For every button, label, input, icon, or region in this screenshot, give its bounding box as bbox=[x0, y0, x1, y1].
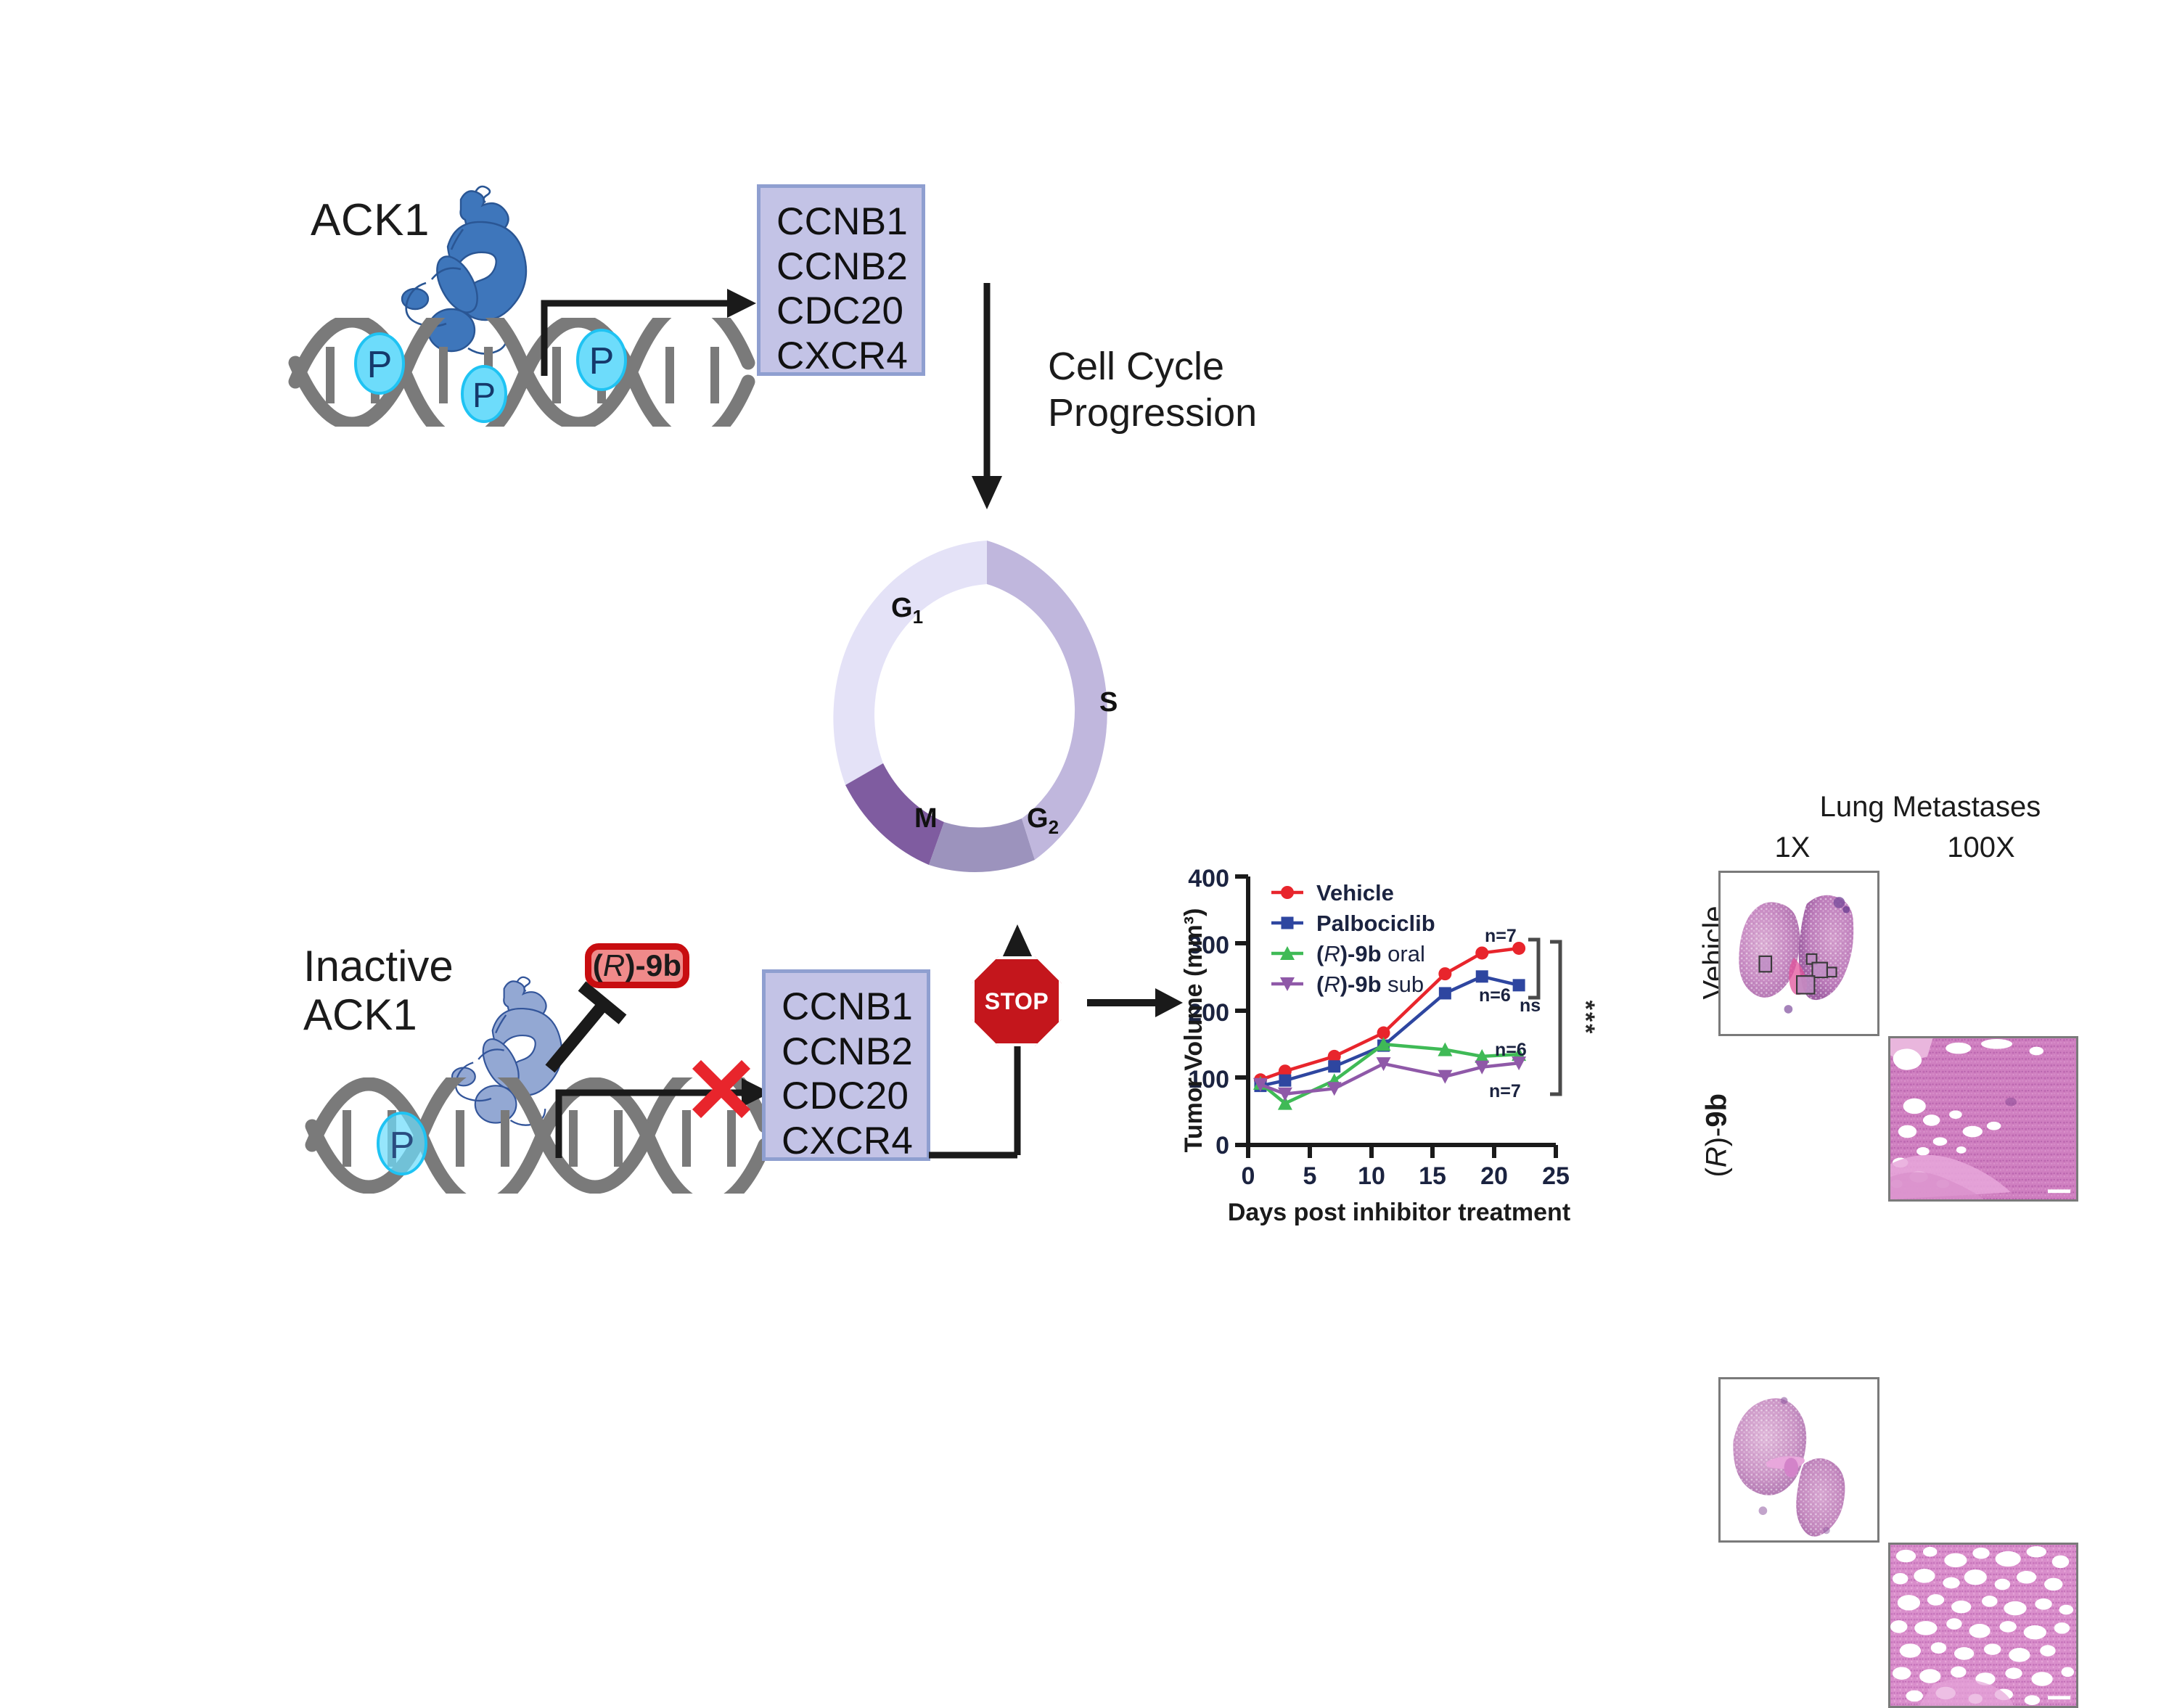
gene-name: CXCR4 bbox=[782, 1119, 927, 1164]
y-tick-label: 400 bbox=[1188, 865, 1229, 892]
data-point bbox=[1438, 967, 1451, 980]
blocked-x-icon bbox=[688, 1056, 755, 1122]
x-axis-title: Days post inhibitor treatment bbox=[1228, 1199, 1570, 1226]
phospho-mark-2-icon: P bbox=[460, 365, 508, 423]
gene-name: CCNB1 bbox=[782, 985, 927, 1030]
data-point bbox=[1476, 970, 1488, 982]
genebox-top-outflow bbox=[925, 279, 930, 284]
svg-text:P: P bbox=[367, 344, 393, 386]
data-point bbox=[1328, 1060, 1340, 1072]
histology-image-9b-1x bbox=[1718, 1377, 1879, 1543]
histology-title: Lung Metastases bbox=[1727, 791, 2133, 824]
genebox-to-cellcycle-connector bbox=[923, 276, 1054, 297]
x-tick-label: 25 bbox=[1542, 1162, 1570, 1190]
chart-legend: VehiclePalbociclib(R)-9b oral(R)-9b sub bbox=[1271, 880, 1435, 997]
cell-cycle-progression-label: Cell Cycle Progression bbox=[1048, 344, 1257, 436]
gene-name: CDC20 bbox=[782, 1074, 927, 1119]
histology-col-header-100x: 100X bbox=[1894, 832, 2068, 864]
histology-row-label-9b: (R)-9b bbox=[1701, 1076, 1734, 1178]
gene-name: CXCR4 bbox=[776, 334, 922, 379]
inhibitor-badge-suffix: )-9b bbox=[625, 948, 681, 983]
sig-label-ns: ns bbox=[1520, 995, 1541, 1016]
inhibitor-badge-stereo: R bbox=[603, 948, 626, 983]
phospho-mark-inactive-icon: P bbox=[376, 1112, 428, 1175]
stop-sign: STOP bbox=[972, 956, 1062, 1046]
stop-to-chart-arrow-icon bbox=[1084, 981, 1186, 1025]
bracket-sig bbox=[1550, 942, 1560, 1094]
histology-image-vehicle-100x bbox=[1888, 1036, 2078, 1202]
n-label-9b-sub: n=7 bbox=[1489, 1081, 1521, 1101]
histology-col-header-1x: 1X bbox=[1727, 832, 1858, 864]
n-label-9b-oral: n=6 bbox=[1495, 1040, 1527, 1060]
data-point bbox=[1281, 886, 1294, 899]
legend-label-1: Palbociclib bbox=[1316, 911, 1435, 936]
cell-cycle-donut: G1 S G2 M bbox=[820, 519, 1154, 889]
x-tick-label: 20 bbox=[1480, 1162, 1508, 1190]
n-label-vehicle: n=7 bbox=[1485, 926, 1517, 946]
data-point bbox=[1475, 946, 1488, 959]
chart-series-layer bbox=[1253, 942, 1526, 1110]
inhibitor-badge-prefix: ( bbox=[593, 948, 603, 983]
legend-label-3: (R)-9b sub bbox=[1316, 972, 1424, 997]
n-label-palbociclib: n=6 bbox=[1479, 985, 1511, 1006]
phase-label-m: M bbox=[914, 803, 938, 834]
gene-name: CCNB1 bbox=[776, 200, 922, 245]
legend-label-2: (R)-9b oral bbox=[1316, 941, 1425, 966]
transcription-arrow-top-icon bbox=[537, 283, 762, 377]
lung-metastases-panel: Lung Metastases 1X 100X Vehicle (R)-9b bbox=[1684, 791, 2162, 1241]
gene-name: CCNB2 bbox=[782, 1030, 927, 1075]
inactive-ack1-label: Inactive ACK1 bbox=[303, 942, 454, 1039]
gene-box-top: CCNB1 CCNB2 CDC20 CXCR4 bbox=[757, 184, 925, 376]
inhibitor-badge: (R)-9b bbox=[585, 943, 689, 988]
x-tick-label: 15 bbox=[1419, 1162, 1446, 1190]
inhibition-tbar-icon bbox=[537, 976, 631, 1077]
phase-label-s: S bbox=[1099, 687, 1118, 718]
cell-cycle-arrow-icon bbox=[925, 283, 1056, 515]
gene-name: CDC20 bbox=[776, 289, 922, 334]
svg-text:P: P bbox=[472, 377, 496, 415]
tumor-volume-chart: 400 300 200 100 0 0 5 10 15 20 25 Tumor … bbox=[1181, 863, 1595, 1241]
gene-name: CCNB2 bbox=[776, 245, 922, 290]
x-tick-label: 10 bbox=[1358, 1162, 1385, 1190]
data-point bbox=[1513, 979, 1525, 991]
y-tick-label: 0 bbox=[1215, 1132, 1229, 1159]
x-tick-label: 5 bbox=[1303, 1162, 1317, 1190]
stop-sign-label: STOP bbox=[972, 956, 1062, 1046]
histology-image-vehicle-1x bbox=[1718, 871, 1879, 1036]
data-point bbox=[1279, 1075, 1291, 1087]
data-point bbox=[1282, 917, 1294, 929]
histology-image-9b-100x bbox=[1888, 1543, 2078, 1708]
x-tick-label: 0 bbox=[1242, 1162, 1255, 1190]
phospho-mark-1-icon: P bbox=[353, 332, 406, 395]
bracket-ns bbox=[1528, 940, 1538, 998]
gene-box-bottom: CCNB1 CCNB2 CDC20 CXCR4 bbox=[762, 969, 930, 1161]
legend-label-0: Vehicle bbox=[1316, 880, 1394, 906]
sig-label-stars: *** bbox=[1572, 1001, 1595, 1036]
y-axis-title: Tumor Volume (mm³) bbox=[1181, 908, 1208, 1153]
svg-text:P: P bbox=[390, 1125, 415, 1167]
data-point bbox=[1439, 987, 1451, 999]
